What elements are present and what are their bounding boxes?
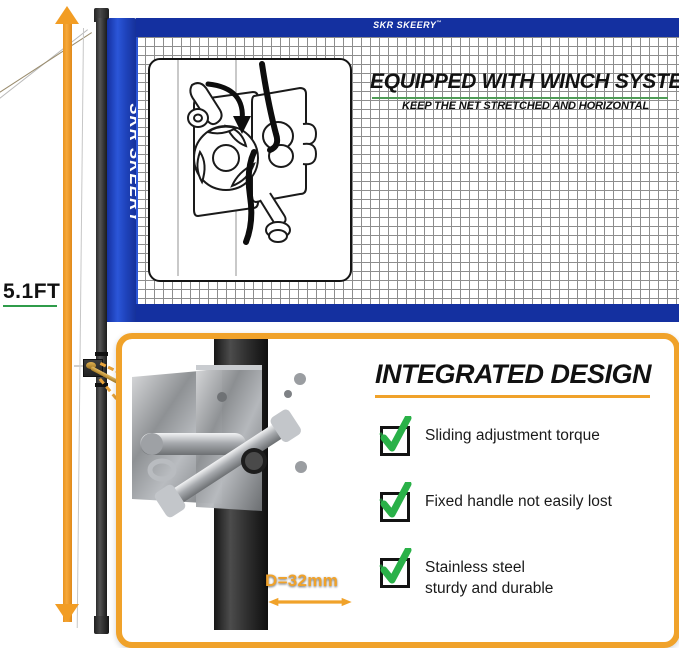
- net-left-edge: [136, 37, 138, 304]
- diameter-label: D=32mm: [265, 571, 338, 591]
- pole-collar-upper: [95, 352, 108, 356]
- feature-item-2: Fixed handle not easily lost: [378, 488, 612, 518]
- product-infographic: 5.1FT SKR SKEERY™ SKR SKEERY™: [0, 0, 679, 646]
- support-pole: [96, 18, 107, 634]
- net-bottom-band: [136, 304, 679, 322]
- net-headline: EQUIPPED WITH WINCH SYSTEM: [370, 70, 679, 94]
- winch-illustration: [150, 60, 346, 276]
- trademark-icon: ™: [436, 20, 442, 26]
- net-brand-label: SKR SKEERY™: [136, 20, 679, 30]
- feature-item-1: Sliding adjustment torque: [378, 422, 600, 452]
- panel-title: INTEGRATED DESIGN: [375, 359, 651, 390]
- net-headline-rule: [372, 97, 668, 99]
- height-label-underline: [3, 305, 57, 307]
- guy-wire-lower: [0, 32, 92, 120]
- net-brand-text: SKR SKEERY: [373, 20, 436, 30]
- feature-label: Stainless steel sturdy and durable: [425, 554, 553, 600]
- feature-label: Fixed handle not easily lost: [425, 488, 612, 513]
- winch-diagram-card: [148, 58, 352, 282]
- checkmark-icon: [378, 488, 408, 518]
- height-arrow-head-down: [55, 604, 79, 622]
- integrated-design-panel: D=32mm INTEGRATED DESIGN Sliding adjustm…: [116, 333, 679, 648]
- checkmark-icon: [378, 554, 408, 584]
- guy-wire-vertical: [77, 28, 84, 628]
- panel-title-rule: [375, 395, 650, 398]
- height-arrow-shaft: [63, 22, 72, 622]
- feature-label: Sliding adjustment torque: [425, 422, 600, 447]
- net-subheadline: KEEP THE NET STRETCHED AND HORIZONTAL: [402, 100, 649, 112]
- feature-item-3: Stainless steel sturdy and durable: [378, 554, 553, 600]
- diameter-arrow-icon: [262, 597, 358, 607]
- height-label: 5.1FT: [3, 280, 60, 304]
- height-arrow-head-up: [55, 6, 79, 24]
- pole-sleeve: SKR SKEERY™: [107, 18, 137, 322]
- checkmark-icon: [378, 422, 408, 452]
- pole-foot: [94, 616, 109, 634]
- net-top-band: SKR SKEERY™: [136, 18, 679, 37]
